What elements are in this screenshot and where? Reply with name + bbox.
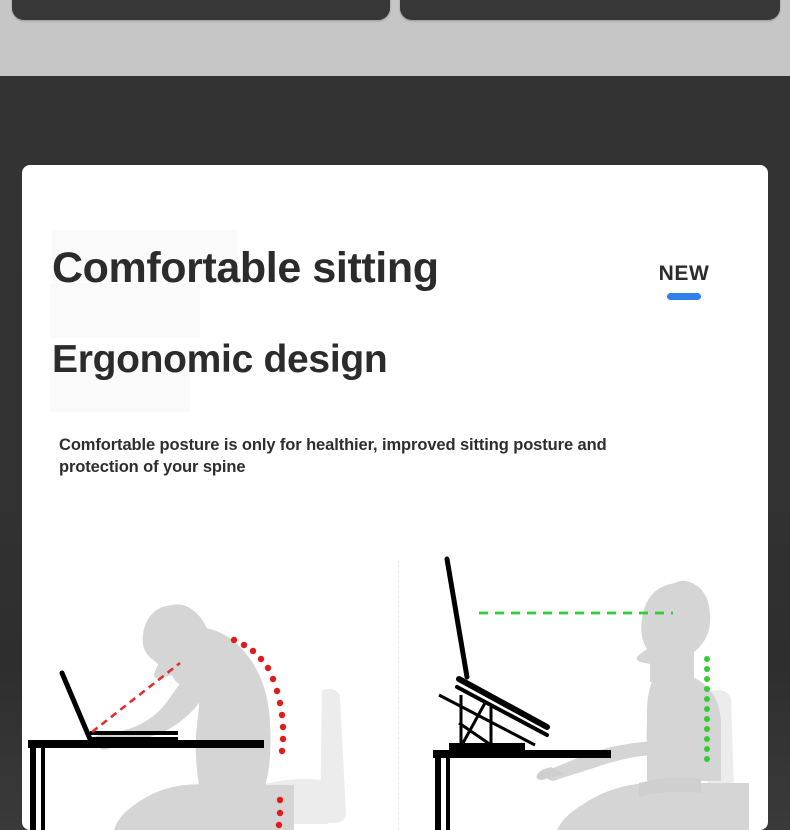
- status-badge-label: NEW: [654, 263, 714, 284]
- status-badge: NEW: [654, 263, 714, 300]
- screen: Comfortable sitting Ergonomic design Com…: [0, 0, 790, 830]
- page-title-line2: Ergonomic design: [52, 340, 387, 379]
- top-strip: [0, 0, 790, 76]
- top-card-left[interactable]: [12, 0, 390, 20]
- bad-posture-illustration: [22, 555, 395, 830]
- person-shape: [537, 581, 749, 830]
- status-badge-underline: [667, 293, 701, 300]
- person-shape: [90, 604, 294, 830]
- page-description: Comfortable posture is only for healthie…: [59, 435, 679, 479]
- good-posture-illustration: [395, 555, 768, 830]
- illustration-row: [22, 555, 768, 830]
- top-card-right[interactable]: [400, 0, 780, 20]
- laptop-stand-shape: [439, 559, 547, 750]
- product-feature-card: Comfortable sitting Ergonomic design Com…: [22, 165, 768, 830]
- page-title-line1: Comfortable sitting: [52, 247, 439, 290]
